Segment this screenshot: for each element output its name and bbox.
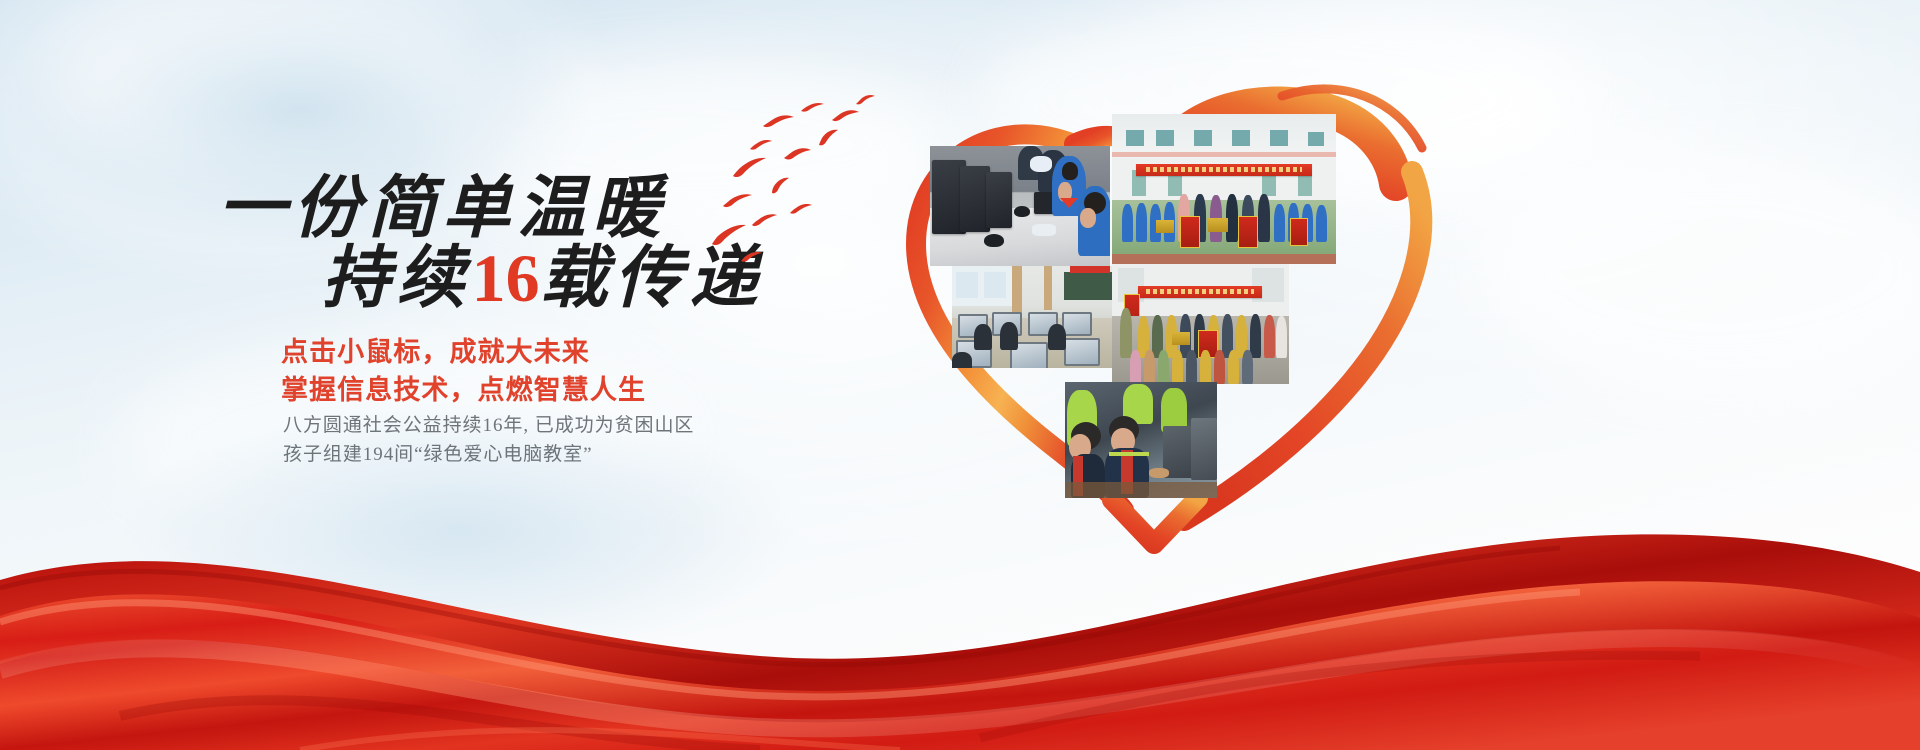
photo-boys-at-screens xyxy=(1065,382,1217,498)
photo-school-donation-ceremony xyxy=(1112,114,1336,264)
photo-collage xyxy=(812,52,1532,532)
photo-classroom-monitors xyxy=(952,266,1112,368)
photo-computer-lab-students xyxy=(930,146,1110,266)
charity-banner: 一份简单温暖 持续16载传递 点击小鼠标，成就大未来 掌握信息技术，点燃智慧人生… xyxy=(0,0,1920,750)
body-line-1: 八方圆通社会公益持续16年, 已成功为贫困山区 xyxy=(283,410,694,437)
headline-line-2-prefix: 持续 xyxy=(322,240,472,316)
headline-line-2: 持续16载传递 xyxy=(322,222,764,321)
headline-years-number: 16 xyxy=(472,240,540,316)
body-line-2: 孩子组建194间“绿色爱心电脑教室” xyxy=(283,439,592,466)
subtitle-line-1: 点击小鼠标，成就大未来 xyxy=(281,330,590,369)
subtitle-line-2: 掌握信息技术，点燃智慧人生 xyxy=(281,368,646,407)
photo-group-award-indoor xyxy=(1112,264,1289,384)
